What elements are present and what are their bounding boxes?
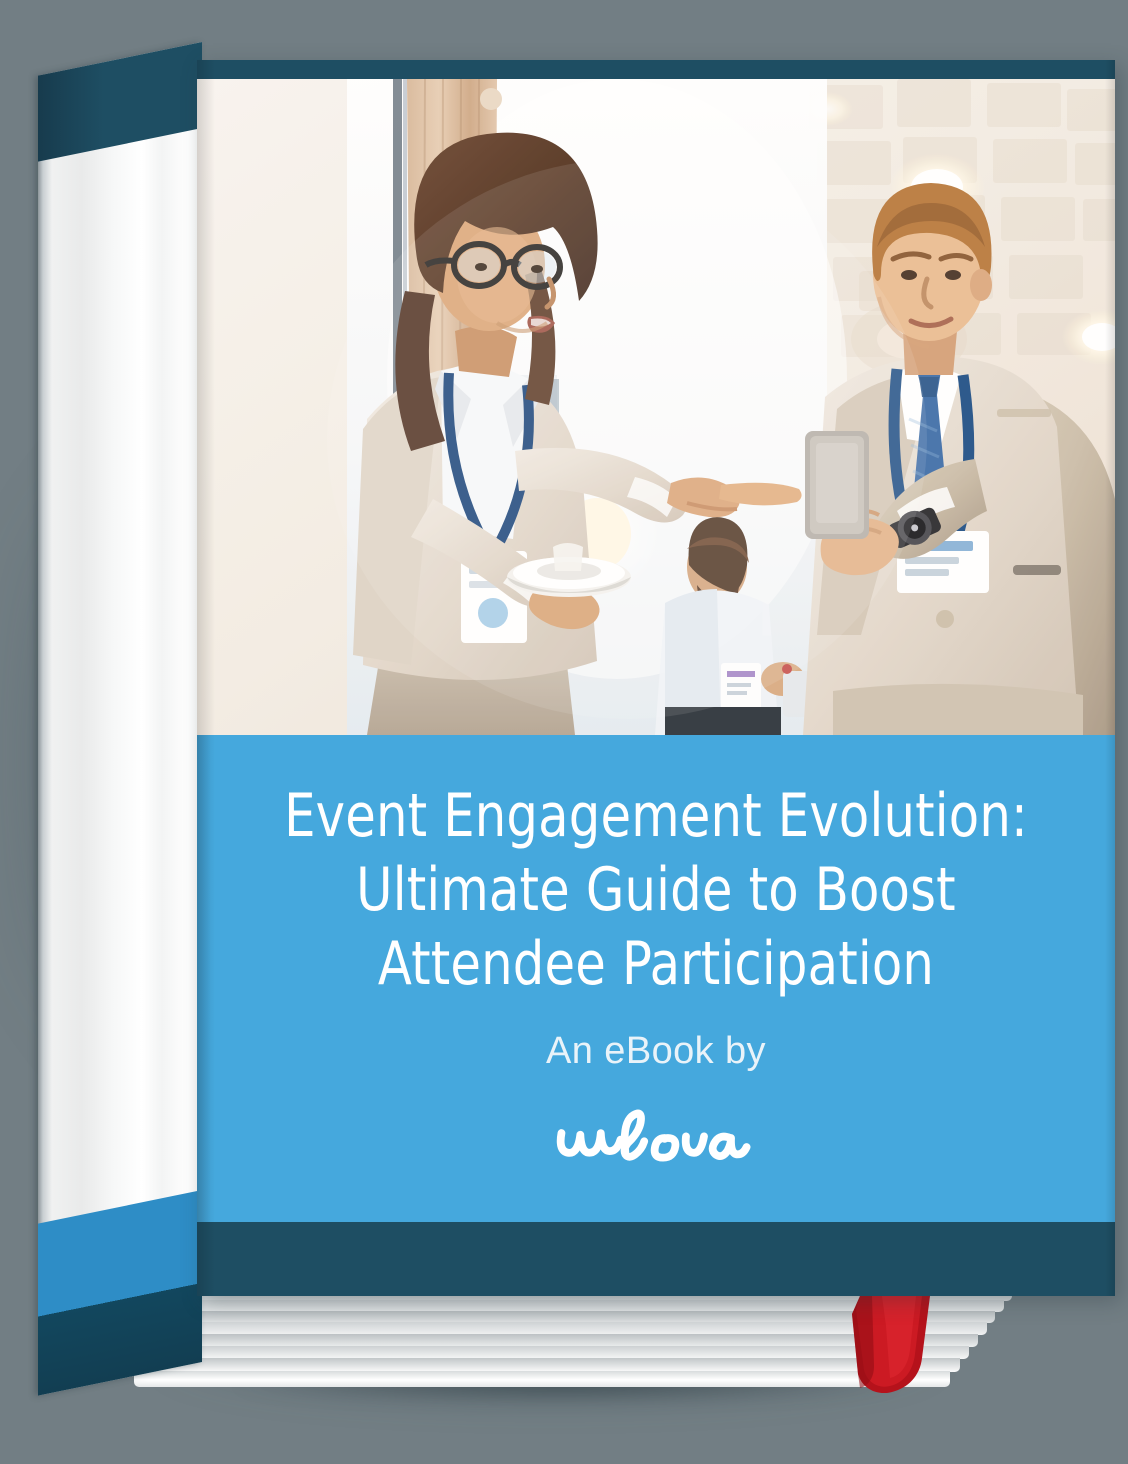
whova-wordmark-icon [197, 1105, 1115, 1176]
cover-top-band [197, 60, 1115, 79]
ebook-cover: Event Engagement Evolution: Ultimate Gui… [197, 60, 1115, 1296]
cover-title: Event Engagement Evolution: Ultimate Gui… [197, 779, 1115, 1001]
cover-photo [197, 79, 1115, 735]
book-mockup-stage: Event Engagement Evolution: Ultimate Gui… [0, 0, 1128, 1464]
cover-byline: An eBook by [197, 1030, 1115, 1073]
title-line-3: Attendee Participation [234, 927, 1079, 1001]
page-sheet [130, 1358, 960, 1372]
title-line-2: Ultimate Guide to Boost [234, 853, 1079, 927]
cover-bottom-band [197, 1222, 1115, 1296]
book-spine-bottom-edge [38, 1190, 202, 1396]
cover-title-panel: Event Engagement Evolution: Ultimate Gui… [197, 735, 1115, 1222]
title-line-1: Event Engagement Evolution: [234, 779, 1079, 853]
book-page-block-side [38, 42, 202, 1396]
page-sheet [134, 1371, 950, 1387]
bookmark-ribbon-icon [852, 1296, 930, 1400]
